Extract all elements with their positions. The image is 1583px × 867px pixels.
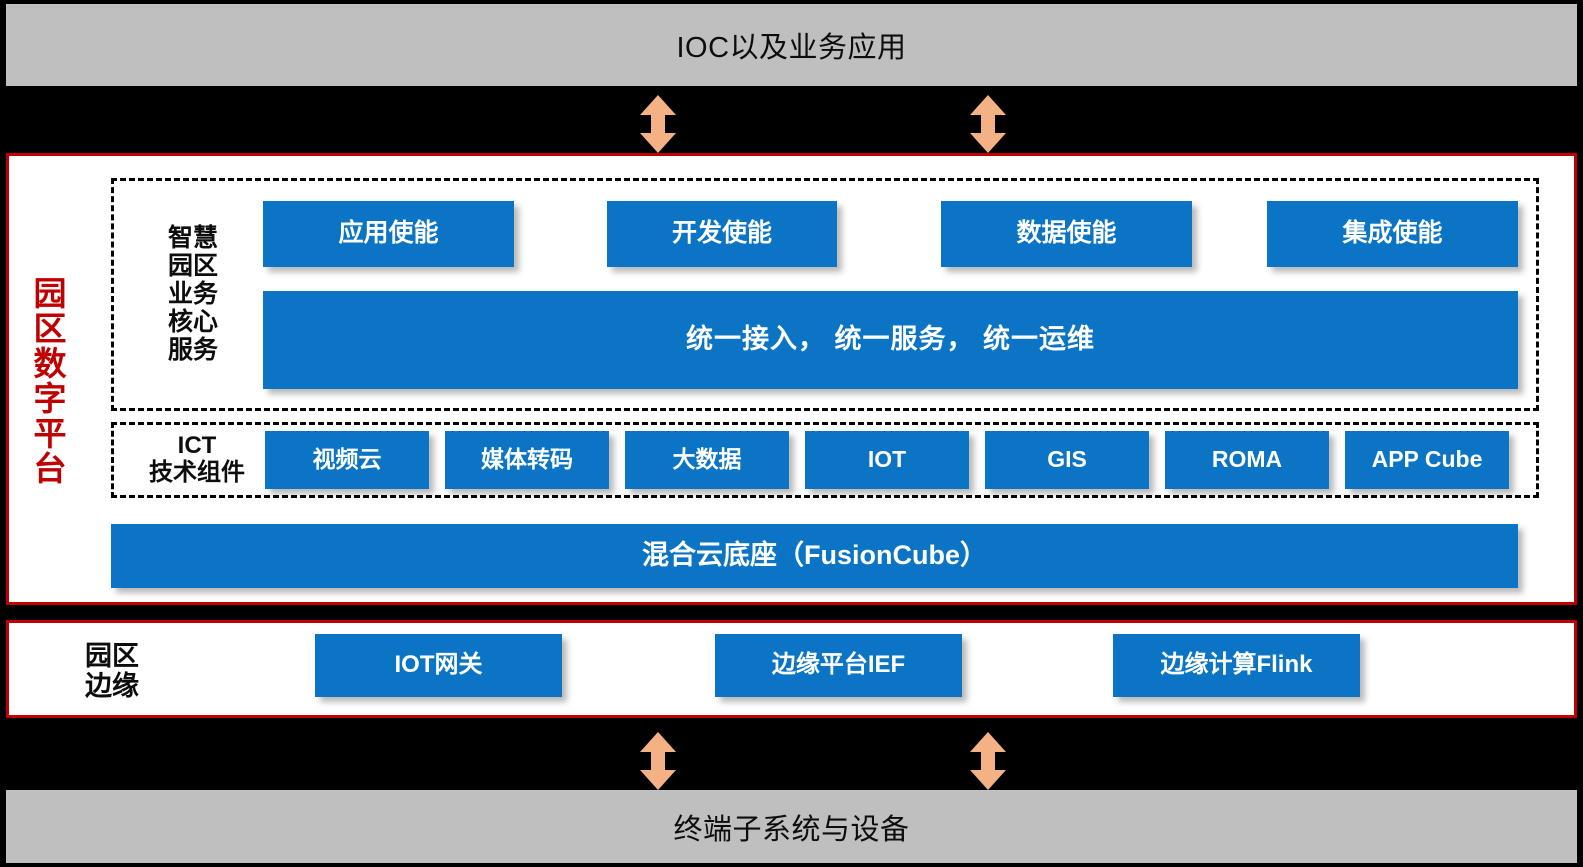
ict-components-label-line: ICT xyxy=(178,433,217,460)
ict-component-media-transcoding[interactable]: 媒体转码 xyxy=(445,431,609,489)
double-headed-arrow-icon xyxy=(640,732,676,790)
campus-edge-label-line: 园区 xyxy=(85,641,139,671)
ict-component-iot[interactable]: IOT xyxy=(805,431,969,489)
terminal-subsystem-label: 终端子系统与设备 xyxy=(673,806,909,848)
ict-component-app-cube[interactable]: APP Cube xyxy=(1345,431,1509,489)
edge-item-edge-platform-ief[interactable]: 边缘平台IEF xyxy=(715,634,962,697)
enablement-box-label: 数据使能 xyxy=(1016,220,1116,248)
ict-components-label-line: 技术组件 xyxy=(149,460,245,487)
enablement-box-application[interactable]: 应用使能 xyxy=(263,201,514,267)
enablement-box-development[interactable]: 开发使能 xyxy=(607,201,837,267)
top-connector-arrow-right xyxy=(970,95,1006,153)
core-services-label-line: 核心 xyxy=(168,308,218,336)
digital-platform-section: 园区数字平台 智慧 园区 业务 核心 服务 应用使能 开发使能 数据使能 集成使… xyxy=(6,153,1577,605)
core-services-label-line: 业务 xyxy=(168,280,218,308)
diagram-canvas: IOC以及业务应用 园区数字平台 智慧 园区 业务 核心 服务 应用使能 开发使 xyxy=(0,0,1583,867)
edge-item-edge-computing-flink[interactable]: 边缘计算Flink xyxy=(1113,634,1360,697)
core-services-label-line: 智慧 xyxy=(168,224,218,252)
ict-component-label: IOT xyxy=(868,447,906,472)
campus-edge-section: 园区 边缘 IOT网关 边缘平台IEF 边缘计算Flink xyxy=(6,620,1577,718)
bottom-connector-arrow-left xyxy=(640,732,676,790)
campus-edge-label-line: 边缘 xyxy=(85,671,139,701)
core-services-label-line: 园区 xyxy=(168,252,218,280)
ict-component-video-cloud[interactable]: 视频云 xyxy=(265,431,429,489)
unified-services-bar[interactable]: 统一接入， 统一服务， 统一运维 xyxy=(263,291,1518,389)
ict-component-big-data[interactable]: 大数据 xyxy=(625,431,789,489)
enablement-box-label: 应用使能 xyxy=(338,220,438,248)
edge-item-iot-gateway[interactable]: IOT网关 xyxy=(315,634,562,697)
ict-component-label: GIS xyxy=(1047,447,1087,472)
enablement-box-data[interactable]: 数据使能 xyxy=(941,201,1192,267)
platform-side-title: 园区数字平台 xyxy=(23,196,71,566)
ict-component-label: APP Cube xyxy=(1372,447,1483,472)
hybrid-cloud-foundation-bar[interactable]: 混合云底座（FusionCube） xyxy=(111,524,1518,588)
unified-services-label: 统一接入， 统一服务， 统一运维 xyxy=(686,325,1095,355)
ict-components-label: ICT 技术组件 xyxy=(129,431,265,489)
edge-item-label: IOT网关 xyxy=(395,652,483,678)
ict-component-gis[interactable]: GIS xyxy=(985,431,1149,489)
bottom-connector-arrow-right xyxy=(970,732,1006,790)
edge-item-label: 边缘平台IEF xyxy=(772,652,905,678)
ict-component-label: ROMA xyxy=(1212,447,1282,472)
ict-component-roma[interactable]: ROMA xyxy=(1165,431,1329,489)
core-services-label: 智慧 园区 业务 核心 服务 xyxy=(141,192,245,396)
ict-component-label: 媒体转码 xyxy=(481,447,573,472)
ict-component-label: 视频云 xyxy=(313,447,382,472)
core-services-label-line: 服务 xyxy=(168,336,218,364)
ict-component-label: 大数据 xyxy=(673,447,742,472)
ioc-application-label: IOC以及业务应用 xyxy=(676,24,906,66)
ioc-application-band: IOC以及业务应用 xyxy=(6,4,1577,86)
top-connector-arrow-left xyxy=(640,95,676,153)
campus-edge-label: 园区 边缘 xyxy=(57,635,167,707)
double-headed-arrow-icon xyxy=(640,95,676,153)
hybrid-cloud-foundation-label: 混合云底座（FusionCube） xyxy=(642,541,987,571)
enablement-box-integration[interactable]: 集成使能 xyxy=(1267,201,1518,267)
enablement-box-label: 开发使能 xyxy=(672,220,772,248)
double-headed-arrow-icon xyxy=(970,732,1006,790)
enablement-box-label: 集成使能 xyxy=(1342,220,1442,248)
terminal-subsystem-band: 终端子系统与设备 xyxy=(6,790,1577,863)
double-headed-arrow-icon xyxy=(970,95,1006,153)
edge-item-label: 边缘计算Flink xyxy=(1160,652,1312,678)
